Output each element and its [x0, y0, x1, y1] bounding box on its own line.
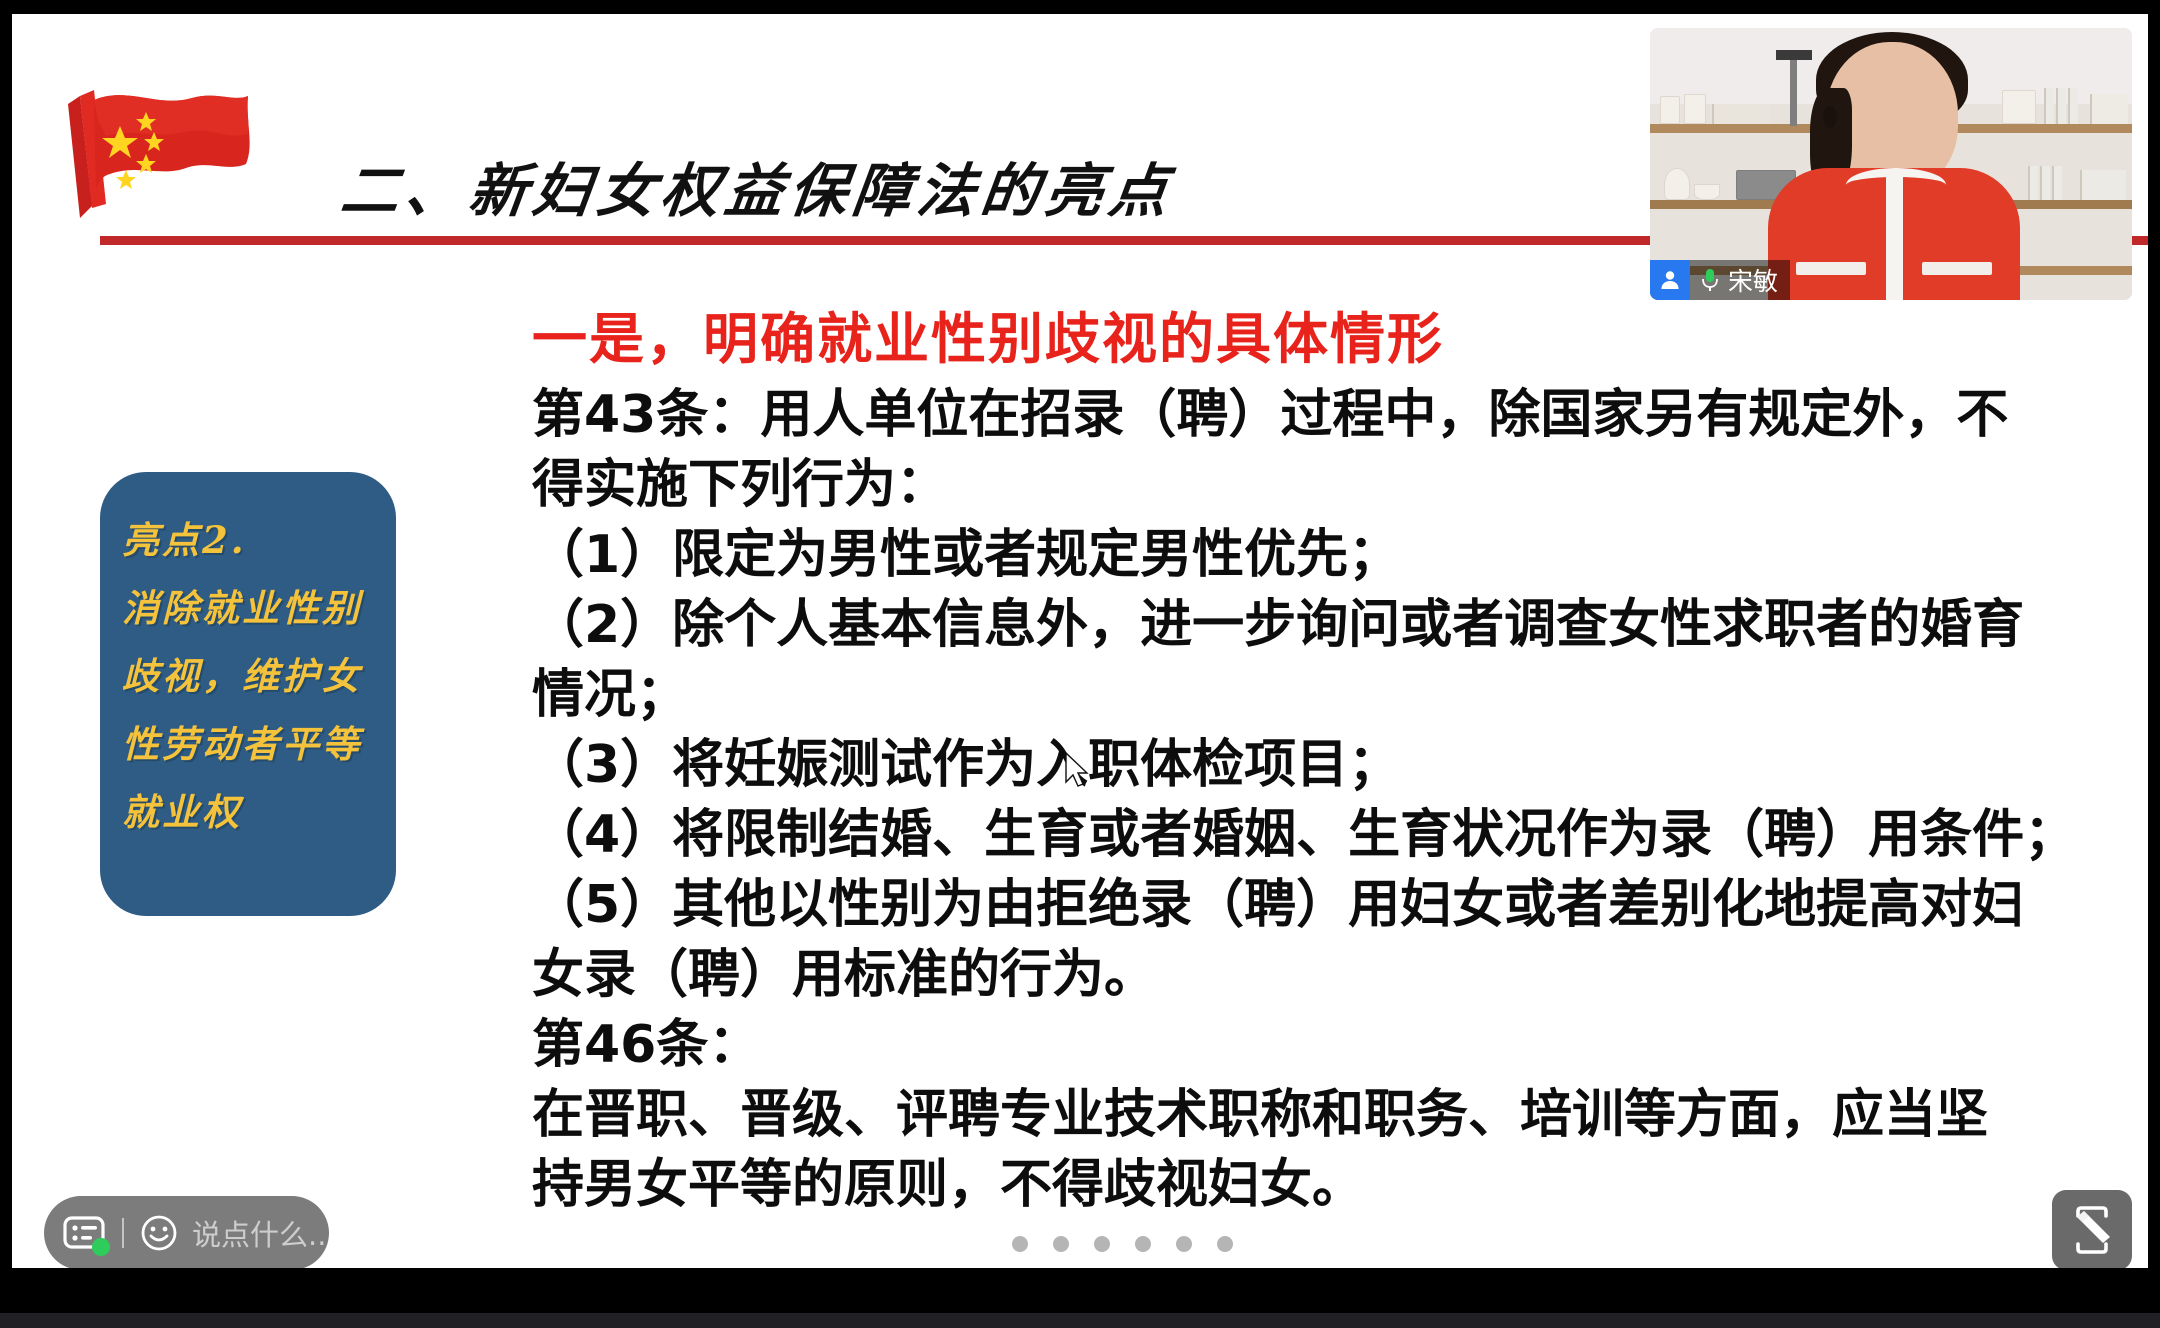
callout-line: 歧视，维护女: [122, 642, 374, 710]
pagination-dot[interactable]: [1176, 1236, 1192, 1252]
body-line: 得实施下列行为：: [532, 450, 2132, 520]
chat-list-icon[interactable]: [62, 1213, 108, 1253]
slide-body: 一是，明确就业性别歧视的具体情形 第43条：用人单位在招录（聘）过程中，除国家另…: [532, 302, 2132, 1220]
mouse-pointer-icon: [1064, 752, 1090, 788]
slide-pagination-dots[interactable]: [1012, 1236, 1233, 1252]
chat-input-bar[interactable]: 说点什么...: [44, 1196, 329, 1268]
body-line: 持男女平等的原则，不得歧视妇女。: [532, 1150, 2132, 1220]
meeting-screenshare-window: 二、新妇女权益保障法的亮点 亮点2. 消除就业性别 歧视，维护女 性劳动者平等 …: [0, 0, 2160, 1328]
pencil-annotate-icon: [2066, 1204, 2118, 1256]
body-line: （4）将限制结婚、生育或者婚姻、生育状况作为录（聘）用条件；: [532, 800, 2132, 870]
body-line: 在晋职、晋级、评聘专业技术职称和职务、培训等方面，应当坚: [532, 1080, 2132, 1150]
callout-line: 就业权: [122, 778, 374, 846]
callout-line: 消除就业性别: [122, 574, 374, 642]
chat-active-toggle-dot[interactable]: [92, 1238, 110, 1256]
body-line: 第46条：: [532, 1010, 2132, 1080]
pagination-dot[interactable]: [1012, 1236, 1028, 1252]
page-title: 二、新妇女权益保障法的亮点: [337, 144, 1179, 228]
taskbar-strip: [0, 1313, 2160, 1328]
divider: [122, 1218, 124, 1248]
participant-name-badge: 宋敏: [1650, 260, 1790, 300]
pagination-dot[interactable]: [1094, 1236, 1110, 1252]
highlight-callout-box: 亮点2. 消除就业性别 歧视，维护女 性劳动者平等 就业权: [100, 472, 396, 916]
body-heading: 一是，明确就业性别歧视的具体情形: [532, 302, 2132, 376]
slide-canvas: 二、新妇女权益保障法的亮点 亮点2. 消除就业性别 歧视，维护女 性劳动者平等 …: [12, 14, 2148, 1268]
callout-line: 亮点2.: [122, 506, 374, 574]
china-flag-icon: [58, 86, 254, 224]
body-line: （5）其他以性别为由拒绝录（聘）用妇女或者差别化地提高对妇: [532, 870, 2132, 940]
pagination-dot[interactable]: [1053, 1236, 1069, 1252]
chat-input-placeholder[interactable]: 说点什么...: [192, 1212, 336, 1254]
smiley-icon[interactable]: [140, 1214, 178, 1252]
participant-video-tile[interactable]: 宋敏: [1650, 28, 2132, 300]
body-line: （1）限定为男性或者规定男性优先；: [532, 520, 2132, 590]
body-line: （3）将妊娠测试作为入职体检项目；: [532, 730, 2132, 800]
pagination-dot[interactable]: [1135, 1236, 1151, 1252]
body-line: 情况；: [532, 660, 2132, 730]
body-line: （2）除个人基本信息外，进一步询问或者调查女性求职者的婚育: [532, 590, 2132, 660]
participant-name: 宋敏: [1728, 262, 1778, 298]
annotate-button[interactable]: [2052, 1190, 2132, 1268]
microphone-icon: [1698, 267, 1722, 293]
body-line: 第43条：用人单位在招录（聘）过程中，除国家另有规定外，不: [532, 380, 2132, 450]
body-line: 女录（聘）用标准的行为。: [532, 940, 2132, 1010]
pagination-dot[interactable]: [1217, 1236, 1233, 1252]
callout-line: 性劳动者平等: [122, 710, 374, 778]
person-icon: [1650, 260, 1690, 300]
